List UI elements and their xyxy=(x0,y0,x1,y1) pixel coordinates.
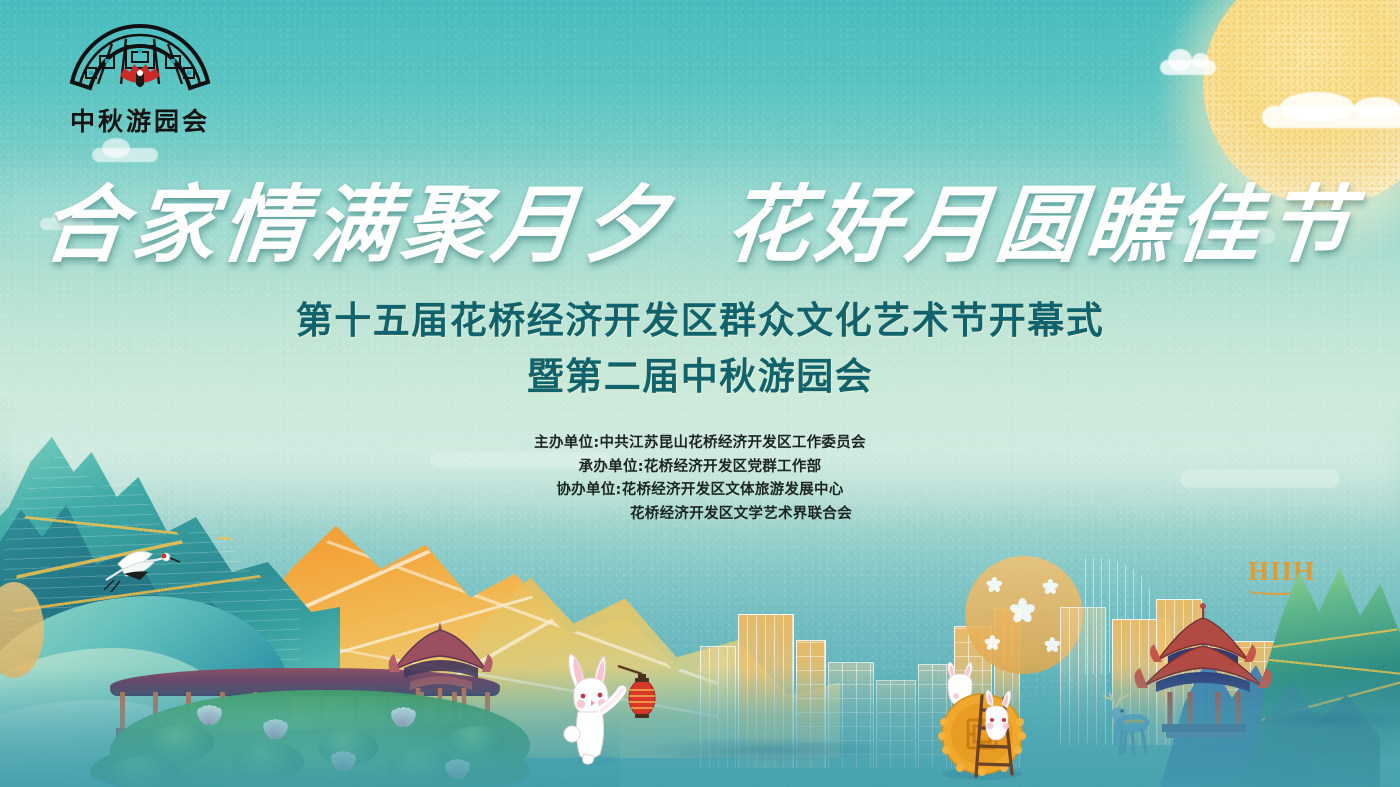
lantern-icon xyxy=(616,664,656,722)
subtitle-line-1: 第十五届花桥经济开发区群众文化艺术节开幕式 xyxy=(0,292,1400,348)
organizer-credits: 主办单位:中共江苏昆山花桥经济开发区工作委员会 承办单位:花桥经济开发区党群工作… xyxy=(0,432,1400,526)
flower-motif-icon xyxy=(986,577,1002,593)
cloud-icon xyxy=(1262,106,1400,128)
flower-motif-icon xyxy=(984,635,1000,651)
mooncake-with-rabbits-icon xyxy=(920,662,1050,782)
cloud-icon xyxy=(1160,60,1216,75)
subtitle-block: 第十五届花桥经济开发区群众文化艺术节开幕式 暨第二届中秋游园会 xyxy=(0,292,1400,404)
poster-canvas: HIIH xyxy=(0,0,1400,787)
credit-line-organizer: 承办单位:花桥经济开发区党群工作部 xyxy=(0,456,1400,480)
mist-band xyxy=(0,150,1400,260)
water-ripple xyxy=(1240,709,1400,729)
flying-crane-icon xyxy=(100,540,186,598)
building-sign: HIIH xyxy=(1248,556,1315,587)
credit-line-coorganizer-2: 花桥经济开发区文学艺术界联合会 xyxy=(0,503,1400,527)
flower-motif-icon xyxy=(1009,598,1035,624)
credit-line-host: 主办单位:中共江苏昆山花桥经济开发区工作委员会 xyxy=(0,432,1400,456)
water-ripple xyxy=(640,737,900,763)
subtitle-line-2: 暨第二届中秋游园会 xyxy=(0,348,1400,404)
logo-text: 中秋游园会 xyxy=(56,102,224,138)
flower-motif-icon xyxy=(1042,579,1058,595)
fan-emblem-icon xyxy=(64,18,216,98)
event-logo: 中秋游园会 xyxy=(56,18,224,138)
bottom-fade xyxy=(0,717,620,787)
flower-motif-icon xyxy=(1044,637,1060,653)
credit-line-coorganizer: 协办单位:花桥经济开发区文体旅游发展中心 xyxy=(0,479,1400,503)
